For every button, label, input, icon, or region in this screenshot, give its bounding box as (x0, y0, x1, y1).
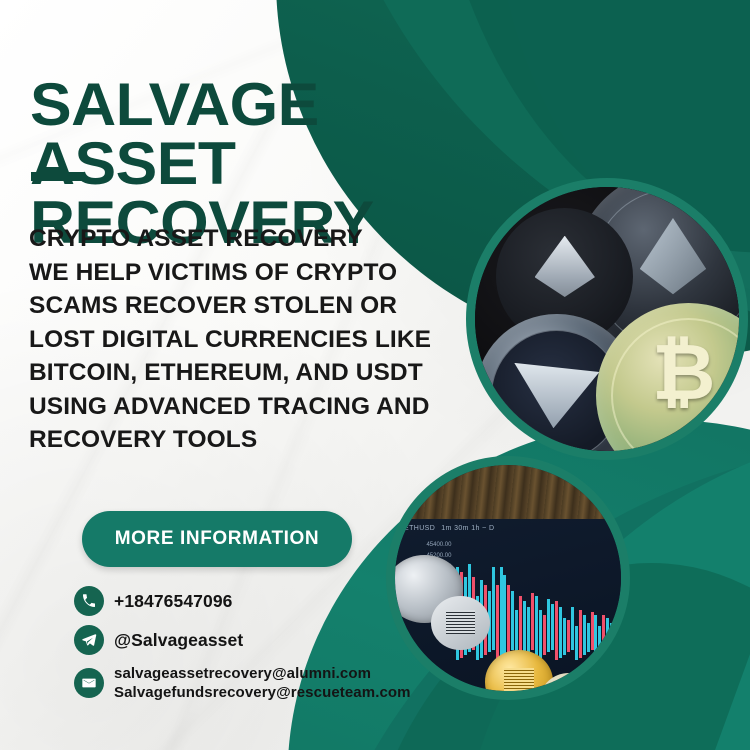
body-copy-line-1: CRYPTO ASSET RECOVERY (29, 222, 475, 256)
contact-list: +18476547096 @Salvageasset salvageass (74, 586, 474, 702)
candlestick (555, 601, 558, 660)
email-address-2: Salvagefundsrecovery@rescueteam.com (114, 683, 411, 702)
candlestick (523, 601, 526, 655)
email-addresses: salvageassetrecovery@alumni.com Salvagef… (114, 664, 411, 702)
body-copy-line-4: LOST DIGITAL CURRENCIES LIKE (29, 323, 475, 357)
content-column: SALVAGE ASSET RECOVERY CRYPTO ASSET RECO… (0, 0, 470, 750)
candlestick (563, 618, 566, 656)
envelope-icon (74, 668, 104, 698)
candlestick (519, 596, 522, 658)
candlestick (594, 615, 597, 661)
candlestick (575, 626, 578, 661)
title-underline-accent (31, 172, 83, 181)
candlestick (602, 615, 605, 655)
body-copy-line-2: WE HELP VICTIMS OF CRYPTO (29, 256, 475, 290)
candlestick (492, 567, 495, 650)
candlestick (547, 599, 550, 653)
contact-row-phone[interactable]: +18476547096 (74, 586, 474, 616)
candlestick (587, 623, 590, 652)
crypto-coins-photo: ₿ (466, 178, 748, 460)
candlestick (500, 567, 503, 658)
candlestick (610, 623, 613, 650)
telegram-handle: @Salvageasset (114, 630, 243, 651)
candlestick (535, 596, 538, 660)
body-copy-line-6: USING ADVANCED TRACING AND (29, 390, 475, 424)
phone-number: +18476547096 (114, 591, 232, 612)
candlestick (543, 615, 546, 655)
email-address-1: salvageassetrecovery@alumni.com (114, 664, 411, 683)
candlestick (567, 620, 570, 652)
candlestick (591, 612, 594, 650)
bitcoin-symbol: ₿ (652, 333, 716, 411)
body-copy-line-7: RECOVERY TOOLS (29, 423, 475, 457)
candlestick (539, 610, 542, 658)
candlestick (511, 591, 514, 650)
candlestick (503, 575, 506, 655)
candlestick (551, 604, 554, 650)
candlestick (583, 615, 586, 655)
poster-canvas: ₿ ETHUSD 1m 30m 1h ~ D 45400.0045200.004… (0, 0, 750, 750)
more-information-button[interactable]: MORE INFORMATION (82, 511, 352, 567)
candlestick (531, 593, 534, 649)
body-copy-line-5: BITCOIN, ETHEREUM, AND USDT (29, 356, 475, 390)
body-copy: CRYPTO ASSET RECOVERYWE HELP VICTIMS OF … (29, 222, 475, 457)
candlestick (507, 585, 510, 652)
contact-row-telegram[interactable]: @Salvageasset (74, 625, 474, 655)
candlestick (571, 607, 574, 650)
phone-icon (74, 586, 104, 616)
candlestick (496, 585, 499, 660)
candlestick (598, 626, 601, 658)
body-copy-line-3: SCAMS RECOVER STOLEN OR (29, 289, 475, 323)
candlestick (606, 618, 609, 653)
contact-row-email[interactable]: salvageassetrecovery@alumni.com Salvagef… (74, 664, 474, 702)
candlestick (559, 607, 562, 658)
telegram-icon (74, 625, 104, 655)
candlestick (527, 607, 530, 653)
candlestick (579, 610, 582, 658)
